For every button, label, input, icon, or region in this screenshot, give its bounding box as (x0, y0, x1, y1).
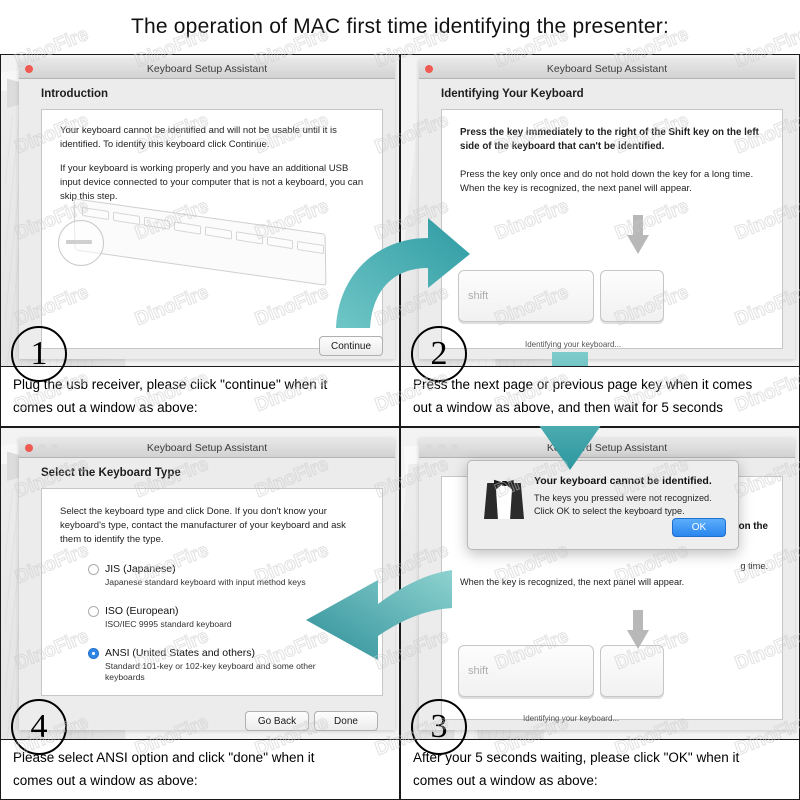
keyboard-setup-window-2: Keyboard Setup Assistant Identifying You… (419, 59, 795, 359)
alert-title: Your keyboard cannot be identified. (534, 475, 726, 487)
window-titlebar: Keyboard Setup Assistant (419, 59, 795, 79)
instruction-note: Press the key only once and do not hold … (442, 164, 782, 196)
go-back-button[interactable]: Go Back (245, 711, 309, 731)
shift-key: shift (458, 270, 594, 322)
caption-line-2: comes out a window as above: (13, 396, 391, 419)
shift-key: shift (458, 645, 594, 697)
alert-dialog: Your keyboard cannot be identified. The … (467, 460, 739, 550)
flow-arrow-1-to-2 (328, 212, 474, 332)
window-titlebar: Keyboard Setup Assistant (19, 438, 395, 458)
shift-key-illustration: shift (458, 645, 664, 697)
radio-ansi-circle[interactable] (88, 648, 99, 659)
step-caption-2: Press the next page or previous page key… (401, 366, 800, 426)
radio-jis-sub: Japanese standard keyboard with input me… (105, 577, 306, 588)
window-traffic-lights[interactable] (425, 65, 433, 73)
window-traffic-lights[interactable] (25, 444, 59, 452)
radio-ansi-sub: Standard 101-key or 102-key keyboard and… (105, 661, 328, 683)
status-text: Identifying your keyboard... (523, 714, 619, 723)
radio-iso-sub: ISO/IEC 9995 standard keyboard (105, 619, 232, 630)
page-title: The operation of MAC first time identify… (0, 0, 800, 54)
step-number-4: 4 (11, 699, 67, 755)
panel-body-text: Your keyboard cannot be identified and w… (42, 110, 382, 204)
step-caption-4: Please select ANSI option and click "don… (1, 739, 400, 799)
keyboard-illustration (52, 206, 372, 292)
close-button[interactable] (425, 444, 433, 452)
step-number-2: 2 (411, 326, 467, 382)
step-caption-3: After your 5 seconds waiting, please cli… (401, 739, 800, 799)
panel-heading: Select the Keyboard Type (19, 458, 395, 486)
window-traffic-lights[interactable] (425, 444, 459, 452)
window-titlebar: Keyboard Setup Assistant (19, 59, 395, 79)
panel-heading: Identifying Your Keyboard (419, 79, 795, 107)
window-title: Keyboard Setup Assistant (547, 63, 667, 75)
window-title: Keyboard Setup Assistant (147, 63, 267, 75)
radio-ansi-label: ANSI (United States and others) (105, 647, 255, 659)
poster-root: The operation of MAC first time identify… (0, 0, 800, 800)
radio-option-ansi[interactable]: ANSI (United States and others) Standard… (88, 647, 328, 683)
steps-grid: Keyboard Setup Assistant Introduction Yo… (0, 54, 800, 800)
step-panel-3: Keyboard Setup Assistant on the g time. … (400, 427, 800, 800)
continue-button[interactable]: Continue (319, 336, 383, 356)
note-tail-2: When the key is recognized, the next pan… (460, 577, 684, 587)
done-button[interactable]: Done (314, 711, 378, 731)
select-type-intro-text: Select the keyboard type and click Done.… (60, 505, 364, 547)
zoom-button[interactable] (51, 444, 59, 452)
close-button[interactable] (425, 65, 433, 73)
radio-iso-circle[interactable] (88, 606, 99, 617)
radio-option-jis[interactable]: JIS (Japanese) Japanese standard keyboar… (88, 563, 306, 588)
step-number-1: 1 (11, 326, 67, 382)
caption-line-2: out a window as above, and then wait for… (413, 396, 791, 419)
caption-line-1: Press the next page or previous page key… (413, 373, 791, 396)
caption-line-1: After your 5 seconds waiting, please cli… (413, 746, 791, 769)
window-titlebar: Keyboard Setup Assistant (419, 438, 795, 458)
step-caption-1: Plug the usb receiver, please click "con… (1, 366, 400, 426)
content-panel: Press the key immediately to the right o… (441, 109, 783, 349)
bold-instruction-tail: on the (739, 521, 768, 532)
window-traffic-lights[interactable] (25, 65, 33, 73)
radio-option-iso[interactable]: ISO (European) ISO/IEC 9995 standard key… (88, 605, 232, 630)
radio-jis-circle[interactable] (88, 564, 99, 575)
panel-heading: Introduction (19, 79, 395, 107)
press-key-indicator-icon (627, 610, 649, 650)
minimize-button[interactable] (438, 444, 446, 452)
bold-instruction-text: Press the key immediately to the right o… (460, 126, 764, 154)
select-type-intro: Select the keyboard type and click Done.… (42, 489, 382, 547)
close-button[interactable] (25, 65, 33, 73)
target-key (600, 645, 664, 697)
ok-button[interactable]: OK (672, 518, 726, 537)
minimize-button[interactable] (38, 444, 46, 452)
target-key (600, 270, 664, 322)
flow-arrow-3-to-4 (304, 566, 452, 664)
status-text: Identifying your keyboard... (525, 340, 621, 349)
bold-instruction: Press the key immediately to the right o… (442, 110, 782, 154)
close-button[interactable] (25, 444, 33, 452)
caption-line-1: Please select ANSI option and click "don… (13, 746, 391, 769)
window-title: Keyboard Setup Assistant (147, 442, 267, 454)
caption-line-2: comes out a window as above: (413, 769, 791, 792)
shift-key-label: shift (459, 665, 488, 677)
shift-key-illustration: shift (458, 270, 664, 322)
tuxedo-icon (484, 475, 524, 519)
step-number-3: 3 (411, 699, 467, 755)
intro-paragraph-2: If your keyboard is working properly and… (60, 162, 364, 204)
caption-line-1: Plug the usb receiver, please click "con… (13, 373, 391, 396)
alert-message: The keys you pressed were not recognized… (534, 492, 724, 517)
note-tail-1: g time. (740, 561, 768, 571)
press-key-indicator-icon (627, 215, 649, 255)
zoom-button[interactable] (451, 444, 459, 452)
radio-jis-label: JIS (Japanese) (105, 563, 176, 575)
radio-iso-label: ISO (European) (105, 605, 179, 617)
intro-paragraph-1: Your keyboard cannot be identified and w… (60, 124, 364, 152)
caption-line-2: comes out a window as above: (13, 769, 391, 792)
instruction-note-text: Press the key only once and do not hold … (460, 168, 764, 196)
